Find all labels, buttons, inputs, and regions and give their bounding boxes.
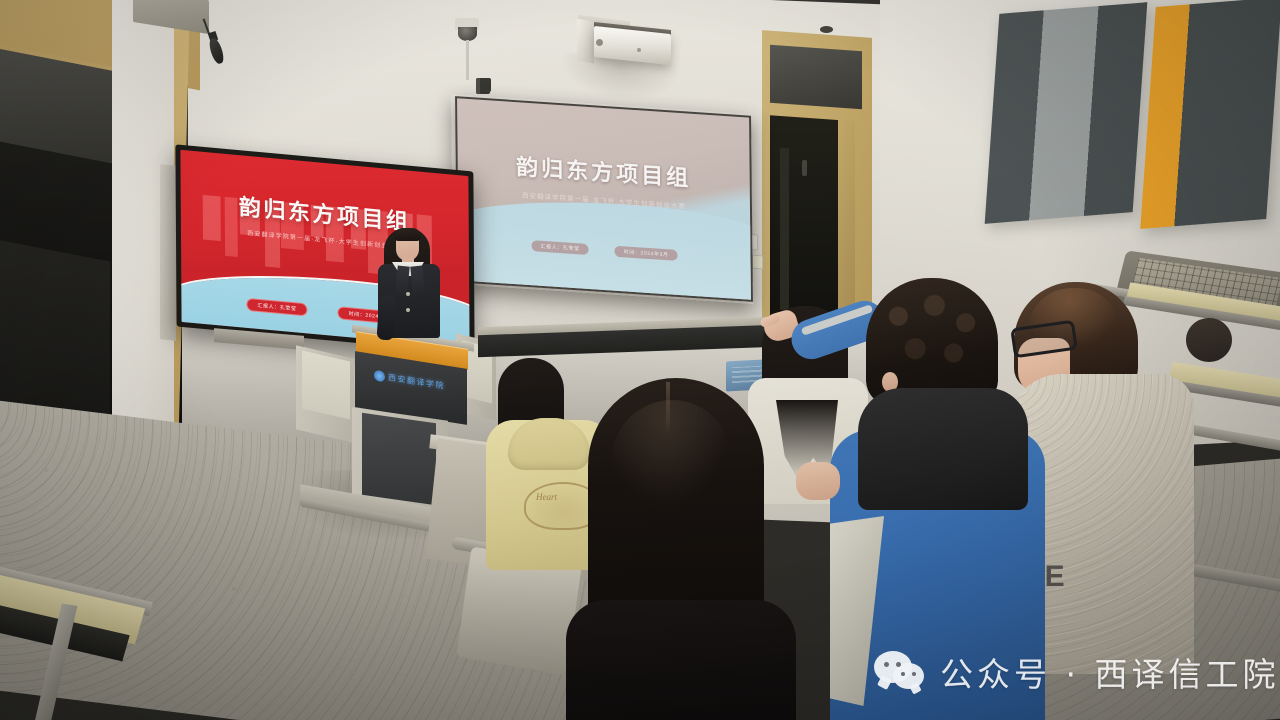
presenter-fringe bbox=[394, 228, 421, 241]
student-center-shoulders bbox=[566, 600, 796, 720]
door-gap bbox=[780, 148, 789, 311]
projector-bracket bbox=[577, 19, 594, 64]
projector-lens-icon bbox=[596, 39, 603, 46]
student-back-right-head bbox=[1186, 318, 1232, 362]
student-yellow-hoodie-print-text: Heart bbox=[536, 492, 592, 508]
acoustic-panel-left bbox=[985, 2, 1148, 224]
door-leaf[interactable] bbox=[838, 119, 855, 320]
door-transom-window bbox=[770, 45, 862, 109]
university-emblem-icon bbox=[374, 369, 385, 382]
dome-camera-icon bbox=[458, 27, 477, 41]
podium-cabinet-door[interactable] bbox=[362, 413, 436, 505]
student-center-hair-gloss bbox=[612, 400, 732, 510]
wall-sensor-icon bbox=[480, 78, 491, 92]
camera-pole bbox=[466, 40, 469, 80]
wall-switch-icon[interactable] bbox=[752, 255, 763, 270]
classroom-presentation-photo: 韵归东方项目组 西安翻译学院第一届·龙飞杯·大学生创新创业大赛 汇报人：孔莹莹 … bbox=[0, 0, 1280, 720]
whiteboard-edge bbox=[160, 164, 176, 341]
projector-indicator bbox=[637, 48, 641, 52]
student-blue-hoodie-hand-lower bbox=[796, 462, 840, 500]
door-handle-icon[interactable] bbox=[802, 160, 807, 176]
projection-screen: 韵归东方项目组 西安翻译学院第一届·龙飞杯·大学生创新创业大赛 汇报人：孔莹莹 … bbox=[455, 96, 753, 302]
student-blue-hoodie-hood bbox=[858, 388, 1028, 510]
presenter-button bbox=[406, 292, 410, 296]
presenter-arm bbox=[376, 295, 396, 340]
presenter-button bbox=[406, 308, 410, 312]
door-sensor-icon bbox=[820, 26, 833, 33]
podium-paper-left bbox=[302, 350, 350, 419]
acoustic-panel-right bbox=[1140, 0, 1280, 229]
